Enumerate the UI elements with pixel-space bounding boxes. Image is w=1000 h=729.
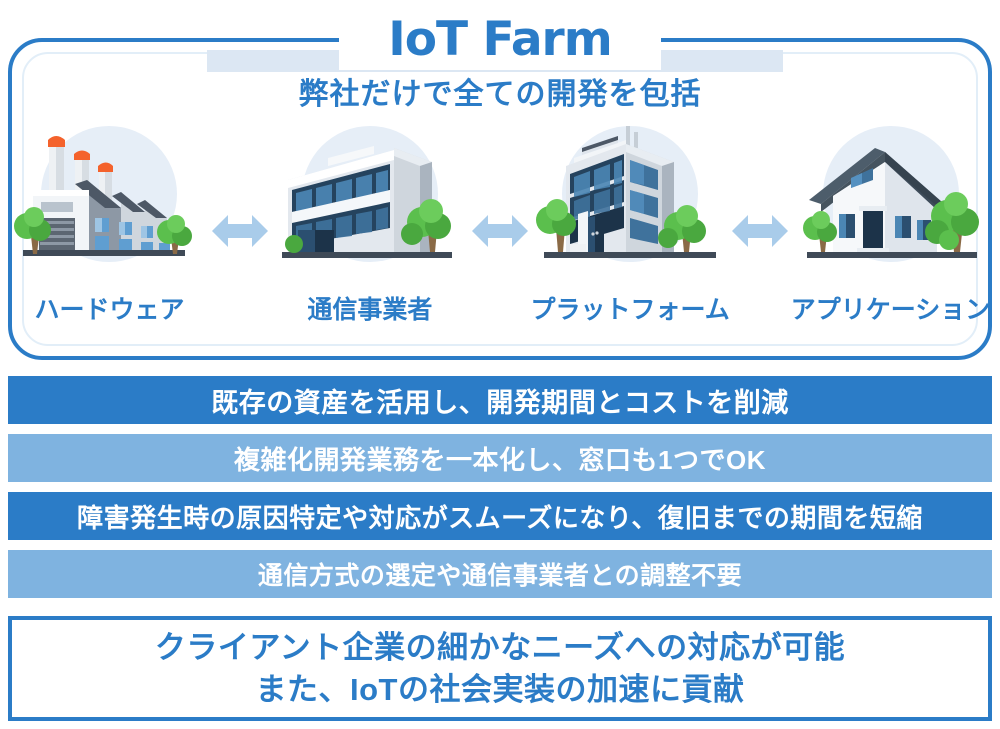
benefit-bar: 既存の資産を活用し、開発期間とコストを削減 bbox=[8, 376, 992, 424]
chain-node-label: プラットフォーム bbox=[529, 290, 732, 326]
factory-icon bbox=[9, 118, 209, 278]
conclusion-line-2: また、IoTの社会実装の加速に貢献 bbox=[256, 669, 745, 711]
chain-node-label: 通信事業者 bbox=[268, 290, 471, 326]
subtitle-container: 弊社だけで全ての開発を包括 bbox=[0, 68, 1000, 114]
office-building-icon bbox=[270, 118, 470, 278]
office-tower-icon bbox=[530, 118, 730, 278]
value-chain-row: ハードウェア bbox=[8, 118, 992, 330]
benefit-bar-text: 障害発生時の原因特定や対応がスムーズになり、復旧までの期間を短縮 bbox=[77, 498, 923, 535]
chain-node-platform: プラットフォーム bbox=[529, 118, 732, 330]
chain-node-label: ハードウェア bbox=[8, 290, 211, 326]
house-icon bbox=[791, 118, 991, 278]
brand-logo: IoT Farm bbox=[339, 8, 661, 70]
chain-node-application: アプリケーション bbox=[789, 118, 992, 330]
subtitle-text: 弊社だけで全ての開発を包括 bbox=[299, 69, 702, 113]
benefit-bar-text: 通信方式の選定や通信事業者との調整不要 bbox=[258, 556, 742, 592]
conclusion-line-1: クライアント企業の細かなニーズへの対応が可能 bbox=[155, 627, 845, 669]
chain-node-hardware: ハードウェア bbox=[8, 118, 211, 330]
brand-logo-text: IoT Farm bbox=[388, 16, 611, 63]
double-arrow-icon bbox=[732, 118, 789, 330]
benefit-bar-text: 既存の資産を活用し、開発期間とコストを削減 bbox=[211, 381, 789, 420]
double-arrow-icon bbox=[211, 118, 268, 330]
benefit-bar: 障害発生時の原因特定や対応がスムーズになり、復旧までの期間を短縮 bbox=[8, 492, 992, 540]
chain-node-label: アプリケーション bbox=[789, 290, 992, 326]
conclusion-box: クライアント企業の細かなニーズへの対応が可能 また、IoTの社会実装の加速に貢献 bbox=[8, 616, 992, 721]
benefit-bar-text: 複雑化開発業務を一本化し、窓口も1つでOK bbox=[234, 440, 766, 477]
chain-node-carrier: 通信事業者 bbox=[268, 118, 471, 330]
double-arrow-icon bbox=[471, 118, 528, 330]
benefit-bar: 通信方式の選定や通信事業者との調整不要 bbox=[8, 550, 992, 598]
benefit-bar: 複雑化開発業務を一本化し、窓口も1つでOK bbox=[8, 434, 992, 482]
